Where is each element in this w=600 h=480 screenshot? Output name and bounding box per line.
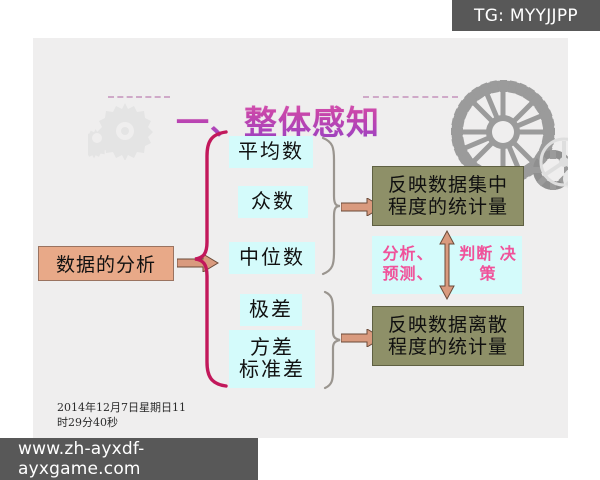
double-arrow-icon: [438, 230, 456, 300]
tg-watermark-label: TG: MYYJJPP: [474, 6, 578, 26]
concept-item: 极差: [240, 294, 302, 326]
timestamp: 2014年12月7日星期日11 时29分40秒: [57, 401, 247, 431]
result-line-2: 程度的统计量: [388, 336, 508, 358]
result-line-1: 反映数据集中: [388, 174, 508, 196]
result-box-central: 反映数据集中 程度的统计量: [372, 166, 524, 226]
concept-item: 方差 标准差: [229, 330, 315, 388]
concept-label: 中位数: [239, 247, 305, 269]
relation-panel: 分析、 预测、 判断 决策: [372, 236, 522, 294]
relation-left-line-2: 预测、: [382, 264, 433, 283]
source-box-label: 数据的分析: [56, 250, 156, 277]
relation-right-text: 判断 决策: [458, 244, 518, 284]
url-watermark-bar: www.zh-ayxdf-ayxgame.com: [0, 438, 258, 480]
slide-canvas: 一、整体感知 数据的分析 平均数 众数 中位数 极差 方差 标准差 反映数据: [33, 38, 568, 438]
result-box-dispersion: 反映数据离散 程度的统计量: [372, 306, 524, 366]
concept-label: 极差: [249, 299, 293, 321]
concept-label-alt: 标准差: [239, 359, 305, 381]
main-brace: [193, 130, 229, 388]
concept-label: 平均数: [238, 141, 304, 163]
concept-item: 中位数: [229, 242, 315, 274]
gear-icon: [561, 166, 568, 192]
relation-left-text: 分析、 预测、: [376, 244, 440, 284]
timestamp-line-1: 2014年12月7日星期日11: [57, 401, 247, 416]
group-brace-central: [319, 136, 341, 276]
timestamp-line-2: 时29分40秒: [57, 416, 247, 431]
concept-item: 平均数: [229, 136, 313, 168]
concept-label: 众数: [251, 191, 295, 213]
tg-watermark-tag: TG: MYYJJPP: [452, 0, 600, 31]
group-brace-dispersion: [319, 290, 341, 390]
title-dash-left: [108, 96, 170, 98]
source-box: 数据的分析: [38, 246, 174, 281]
url-watermark-label: www.zh-ayxdf-ayxgame.com: [18, 439, 258, 479]
result-line-1: 反映数据离散: [388, 314, 508, 336]
result-line-2: 程度的统计量: [388, 196, 508, 218]
relation-right-line-1: 判断: [459, 244, 493, 263]
concept-label: 方差: [250, 337, 294, 359]
concept-item: 众数: [238, 186, 308, 218]
relation-left-line-1: 分析、: [382, 244, 433, 263]
